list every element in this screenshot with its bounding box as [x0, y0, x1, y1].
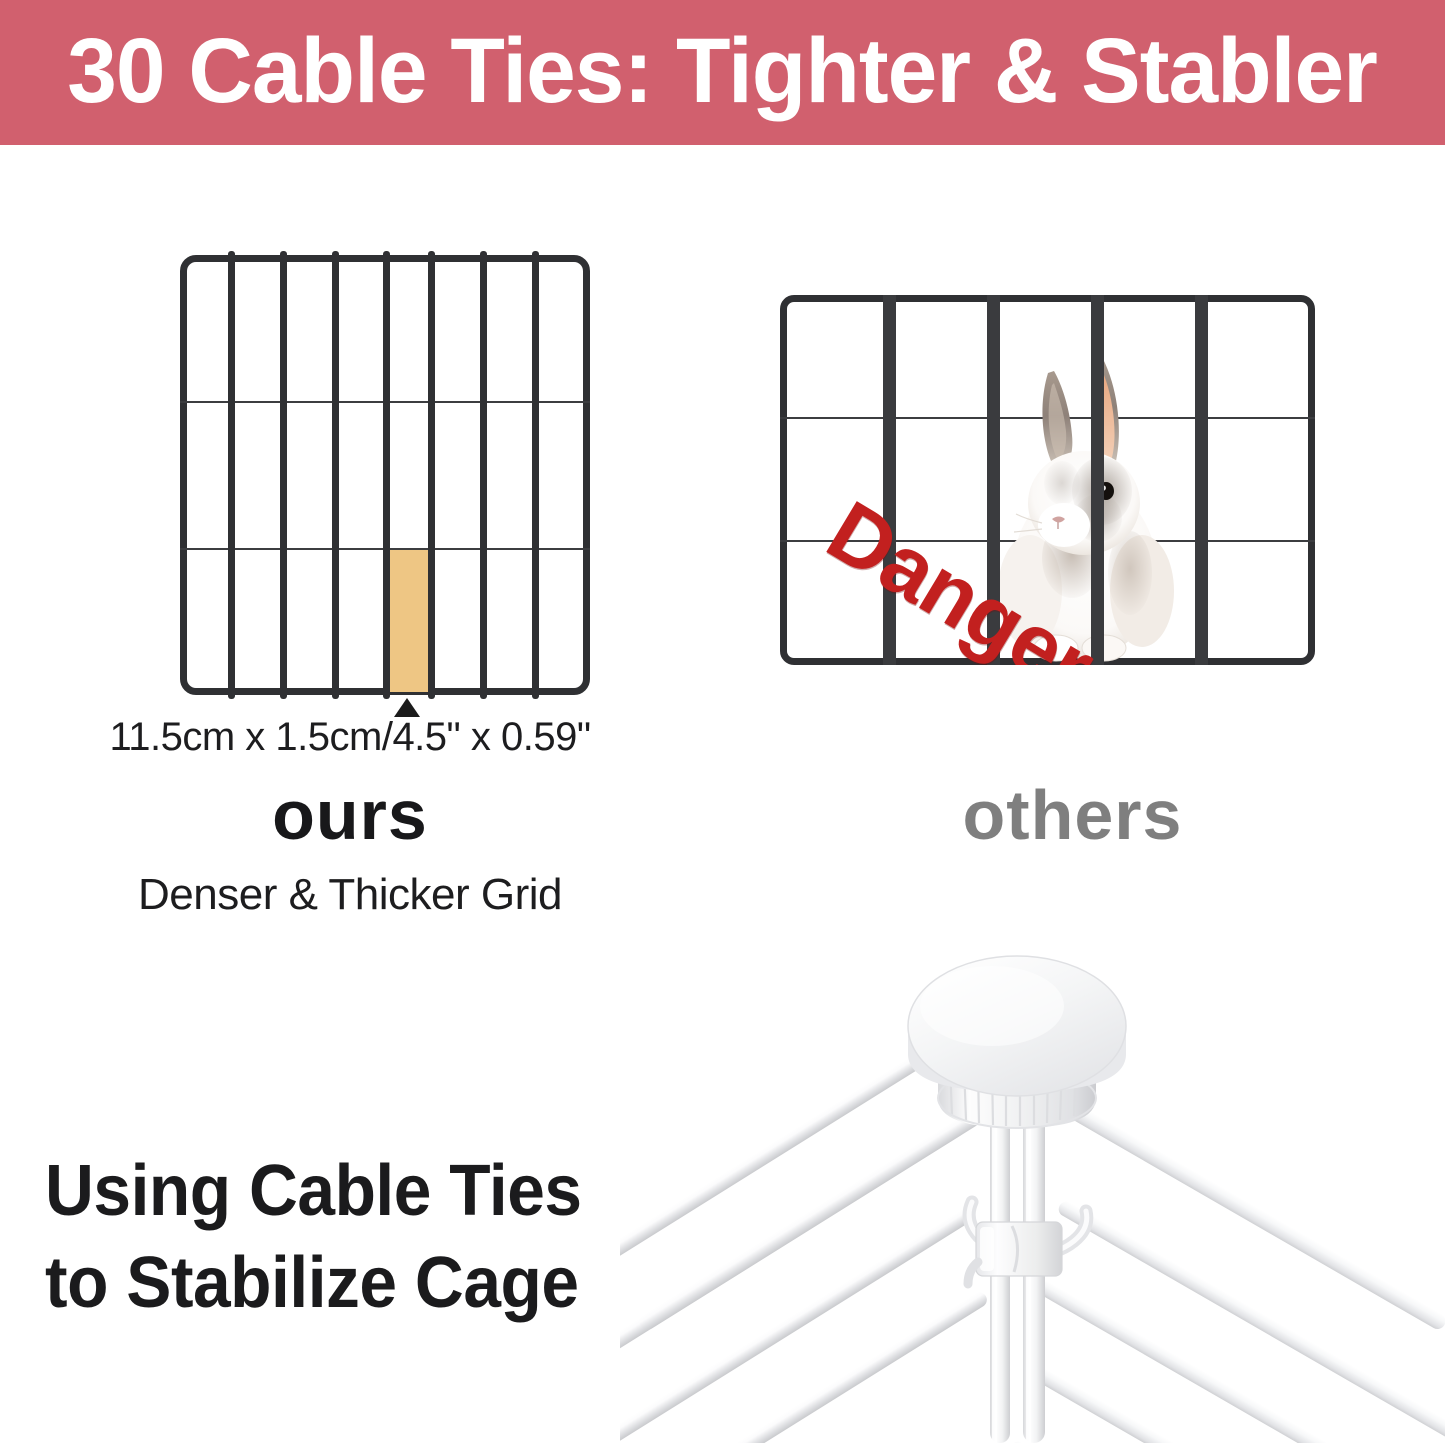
comparison-section: 11.5cm x 1.5cm/4.5" x 0.59" ours Denser …	[0, 145, 1445, 945]
ours-grid-vbar	[480, 251, 487, 699]
ours-grid-vbar	[383, 251, 390, 699]
header-banner: 30 Cable Ties: Tighter & Stabler	[0, 0, 1445, 145]
header-title: 30 Cable Ties: Tighter & Stabler	[68, 25, 1378, 121]
others-title-label: others	[700, 775, 1445, 855]
bottom-section: Using Cable Ties to Stabilize Cage	[0, 930, 1445, 1443]
ours-grid-vbar	[532, 251, 539, 699]
others-grid-vbar	[1195, 295, 1208, 665]
ours-grid-vbar	[228, 251, 235, 699]
ours-grid-highlight-cell	[385, 550, 429, 692]
bottom-headline-line1: Using Cable Ties	[45, 1145, 609, 1237]
ours-grid-diagram	[180, 255, 590, 695]
ours-panel: 11.5cm x 1.5cm/4.5" x 0.59" ours Denser …	[0, 145, 700, 945]
bottom-headline: Using Cable Ties to Stabilize Cage	[45, 1145, 609, 1329]
others-grid-vbar	[1091, 295, 1104, 665]
ours-grid-vbar	[428, 251, 435, 699]
ours-caption-label: Denser & Thicker Grid	[0, 870, 700, 920]
ours-grid-vbar	[332, 251, 339, 699]
cage-corner-product-photo	[620, 930, 1445, 1443]
bottom-headline-line2: to Stabilize Cage	[45, 1237, 609, 1329]
ours-dimension-label: 11.5cm x 1.5cm/4.5" x 0.59"	[0, 715, 700, 760]
ours-title-label: ours	[0, 775, 700, 855]
others-grid-diagram: Dangerous!	[780, 295, 1315, 665]
others-panel: Dangerous! others	[700, 145, 1445, 945]
corner-cap	[908, 956, 1126, 1096]
ours-grid-vbar	[280, 251, 287, 699]
